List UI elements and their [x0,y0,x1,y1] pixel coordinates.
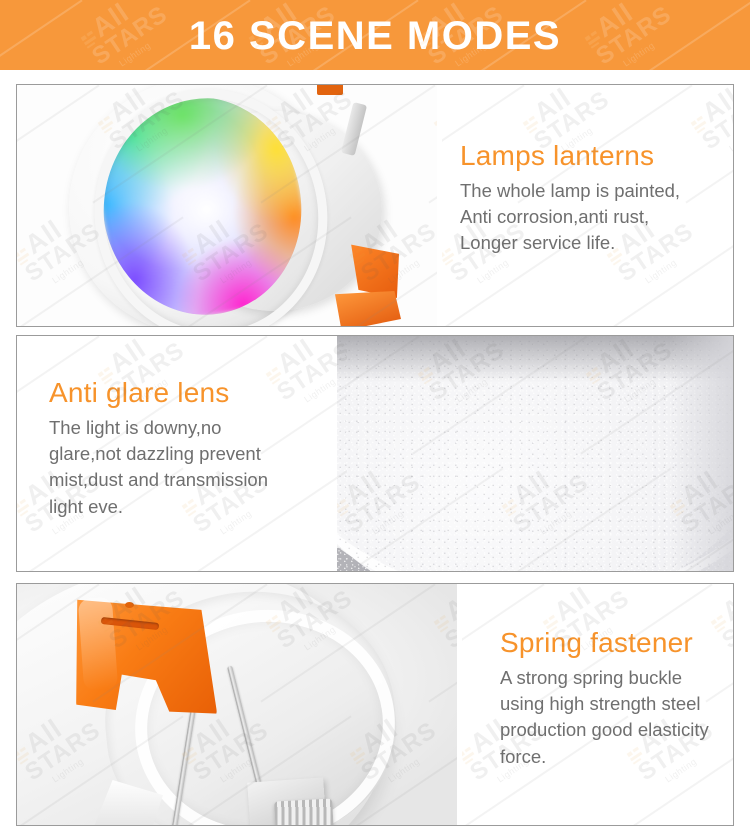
feature-text-lamps-lanterns: Lamps lanterns The whole lamp is painted… [442,85,733,326]
feature-text-anti-glare-lens: Anti glare lens The light is downy,no gl… [17,336,347,571]
spring-coil [274,799,334,825]
feature-panel-spring-fastener: AllSTARSLightingAllSTARSLightingAllSTARS… [16,583,734,826]
feature-panel-lamps-lanterns: AllSTARSLightingAllSTARSLightingAllSTARS… [16,84,734,327]
feature-text-spring-fastener: Spring fastener A strong spring buckle u… [462,584,733,825]
orange-clip-dimple [125,602,134,608]
feature-description: A strong spring buckle using high streng… [500,665,727,770]
feature-heading: Lamps lanterns [460,141,725,172]
header-banner: AllSTARSLightingAllSTARSLightingAllSTARS… [0,0,750,70]
brand-watermark: AllSTARSLighting [462,584,472,663]
downlight-orange-tab-top [317,85,343,95]
brand-watermark: AllSTARSLighting [427,85,437,164]
product-photo-rgb-downlight: AllSTARSLightingAllSTARSLightingAllSTARS… [17,85,437,326]
watermark-stripe [428,85,437,204]
brand-watermark: AllSTARSLighting [442,85,452,164]
orange-clip-highlight [78,597,118,691]
product-photo-spring-fastener: AllSTARSLightingAllSTARSLightingAllSTARS… [17,584,457,825]
feature-description: The light is downy,no glare,not dazzling… [49,415,341,520]
feature-heading: Anti glare lens [49,378,341,409]
lens-right-edge-shade [669,336,733,571]
downlight-orange-spring-clip-lower [335,291,401,326]
product-photo-anti-glare-lens: AllSTARSLightingAllSTARSLightingAllSTARS… [337,336,733,571]
feature-panel-anti-glare-lens: Anti glare lens The light is downy,no gl… [16,335,734,572]
brand-watermark: AllSTARSLighting [17,85,27,164]
brand-watermark: AllSTARSLighting [17,336,27,415]
feature-description: The whole lamp is painted, Anti corrosio… [460,178,725,257]
page-title: 16 SCENE MODES [0,14,750,59]
downlight-bracket-arm [341,102,367,156]
feature-heading: Spring fastener [500,628,727,659]
